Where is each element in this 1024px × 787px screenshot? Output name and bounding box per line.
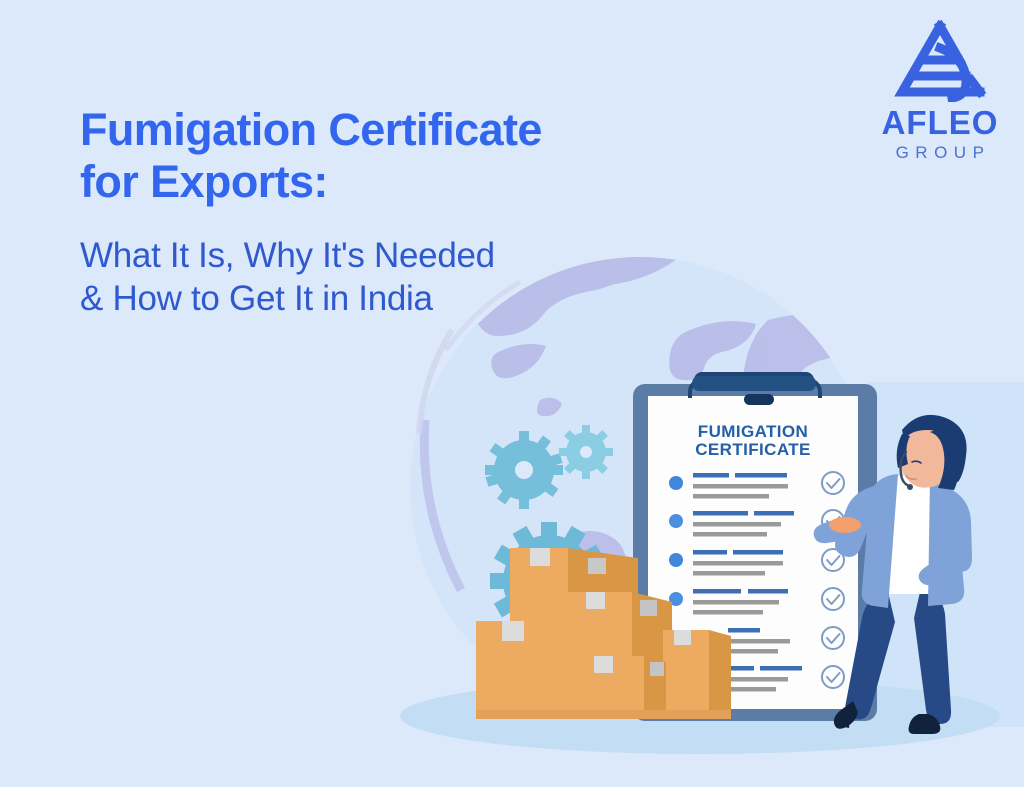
page-subtitle: What It Is, Why It's Needed & How to Get… [80, 234, 700, 320]
afleo-triangle-knot-icon [888, 18, 992, 102]
page-title: Fumigation Certificate for Exports: [80, 104, 700, 208]
certificate-title-line2: CERTIFICATE [695, 440, 811, 459]
brand-sub: GROUP [896, 144, 991, 161]
banner: FUMIGATION CERTIFICATE [0, 0, 1024, 787]
hand-icon [829, 517, 861, 533]
box-front-center [580, 656, 666, 716]
brand-logo[interactable]: AFLEO GROUP [874, 18, 1006, 168]
headset-mic-icon [907, 484, 913, 490]
subhead-line-1: What It Is, Why It's Needed [80, 236, 495, 275]
brand-name: AFLEO [882, 106, 999, 139]
subhead-line-2: & How to Get It in India [80, 279, 433, 318]
gear-small-icon [559, 425, 613, 479]
headline-line-2: for Exports: [80, 156, 328, 207]
headline-line-1: Fumigation Certificate [80, 104, 542, 155]
certificate-title-line1: FUMIGATION [698, 422, 808, 441]
box-right [663, 630, 731, 718]
headline-block: Fumigation Certificate for Exports: What… [80, 104, 700, 320]
box-front-left [476, 621, 580, 716]
